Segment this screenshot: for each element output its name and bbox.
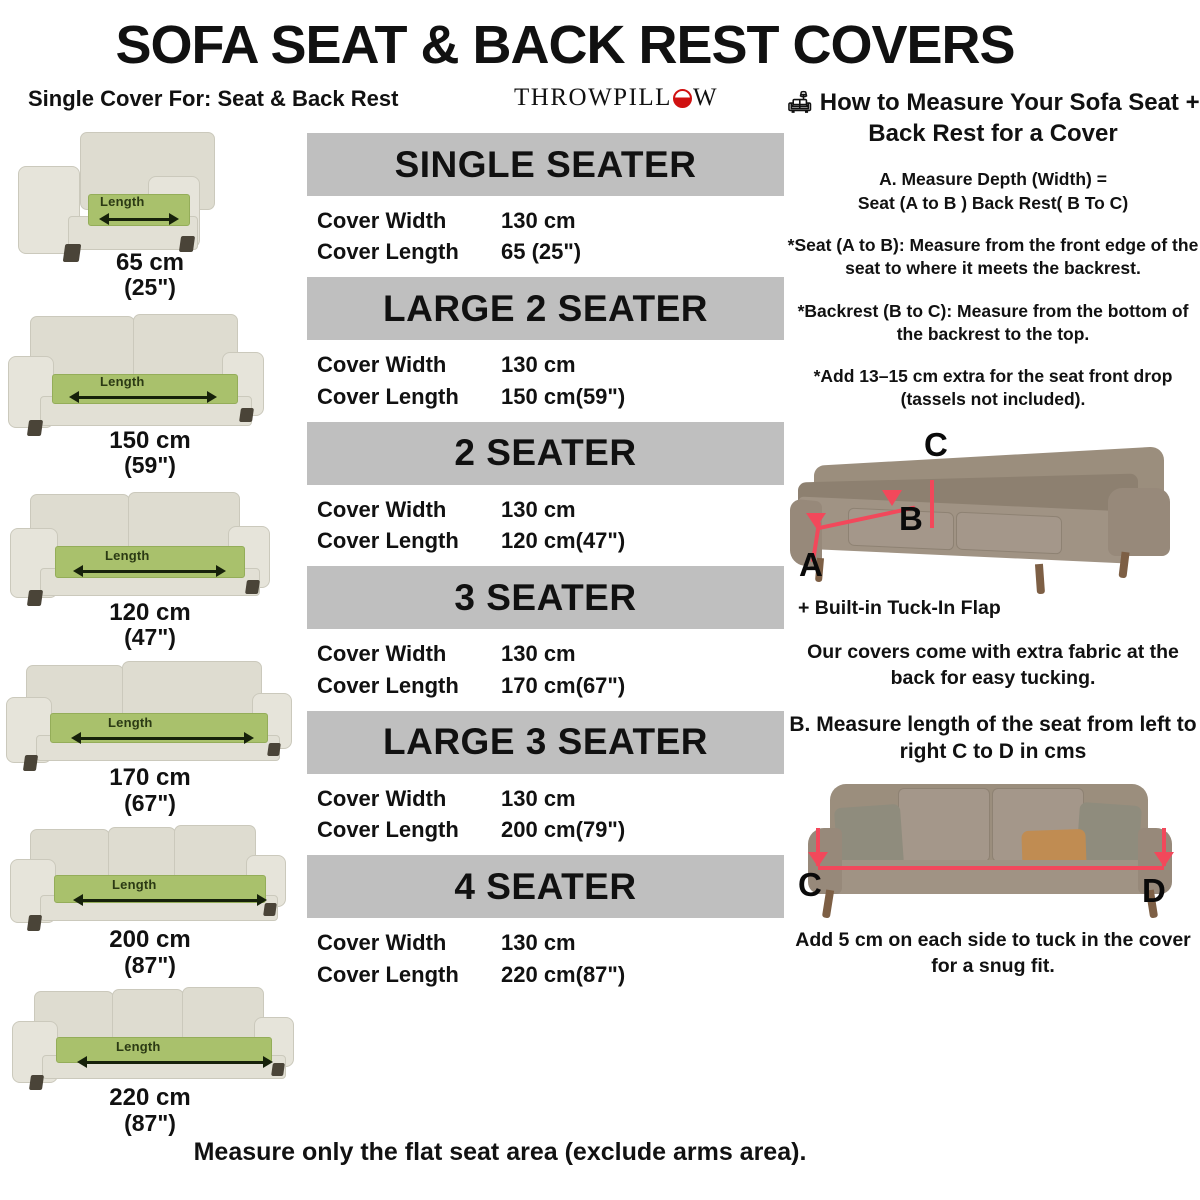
- length-inches: (47"): [0, 625, 300, 649]
- guide-note-a-line2: Seat (A to B ) Back Rest( B To C): [786, 192, 1200, 215]
- cover-length-row: Cover Length 170 cm(67"): [317, 670, 784, 701]
- size-table: SINGLE SEATER Cover Width 130 cm Cover L…: [307, 133, 784, 1000]
- marker-c: C: [798, 866, 822, 904]
- sofa-caption-3-seater: 170 cm (67"): [0, 765, 300, 815]
- cover-length-value: 150 cm(59"): [501, 381, 625, 412]
- brand-part-3: W: [693, 84, 718, 112]
- cover-width-value: 130 cm: [501, 783, 576, 814]
- guide-title-text: How to Measure Your Sofa Seat + Back Res…: [820, 89, 1200, 147]
- infographic-page: SOFA SEAT & BACK REST COVERS Single Cove…: [0, 0, 1200, 1200]
- cover-width-row: Cover Width 130 cm: [317, 638, 784, 669]
- brand-logo: THROWPILLW: [514, 84, 718, 112]
- cover-length-row: Cover Length 65 (25"): [317, 236, 784, 267]
- sofa-caption-single-seater: 65 cm (25"): [0, 250, 300, 300]
- cover-width-label: Cover Width: [317, 349, 501, 380]
- size-card-2-seater: 2 SEATER Cover Width 130 cm Cover Length…: [307, 422, 784, 565]
- cover-length-row: Cover Length 220 cm(87"): [317, 959, 784, 990]
- length-arrow: [78, 396, 208, 399]
- cover-length-value: 220 cm(87"): [501, 959, 625, 990]
- guide-note-a-line1: A. Measure Depth (Width) =: [786, 168, 1200, 191]
- length-inches: (25"): [0, 275, 300, 299]
- cover-length-label: Cover Length: [317, 236, 501, 267]
- brand-part-2: WPILL: [588, 84, 672, 112]
- cover-length-label: Cover Length: [317, 381, 501, 412]
- brand-part-1: THR: [514, 84, 569, 112]
- tuck-note: Our covers come with extra fabric at the…: [786, 640, 1200, 691]
- size-card-title: SINGLE SEATER: [395, 144, 697, 186]
- sofa-illustration-column: Length 65 cm (25") Length: [0, 128, 300, 1135]
- size-card-title: 4 SEATER: [454, 866, 636, 908]
- length-inches: (67"): [0, 791, 300, 815]
- red-circle-logo-dot-icon: [673, 89, 692, 108]
- cover-length-label: Cover Length: [317, 814, 501, 845]
- sofa-illustration-large-2-seater: Length 150 cm (59"): [0, 312, 300, 478]
- sofa-illustration-4-seater: Length 220 cm (87"): [0, 983, 300, 1135]
- page-title: SOFA SEAT & BACK REST COVERS: [0, 14, 1130, 76]
- sofa-caption-4-seater: 220 cm (87"): [0, 1085, 300, 1135]
- size-card-header: SINGLE SEATER: [307, 133, 784, 196]
- cover-length-label: Cover Length: [317, 670, 501, 701]
- red-arrow-a: [806, 513, 826, 528]
- cover-width-row: Cover Width 130 cm: [317, 494, 784, 525]
- length-arrow-label: Length: [100, 374, 145, 389]
- size-card-single-seater: SINGLE SEATER Cover Width 130 cm Cover L…: [307, 133, 784, 276]
- guide-note-backrest: *Backrest (B to C): Measure from the bot…: [786, 300, 1200, 347]
- length-arrow: [86, 1061, 264, 1064]
- cover-length-row: Cover Length 150 cm(59"): [317, 381, 784, 412]
- length-inches: (87"): [0, 953, 300, 977]
- size-card-header: 2 SEATER: [307, 422, 784, 485]
- length-arrow-label: Length: [116, 1039, 161, 1054]
- marker-c: C: [924, 426, 948, 464]
- cover-width-label: Cover Width: [317, 205, 501, 236]
- size-card-large-3-seater: LARGE 3 SEATER Cover Width 130 cm Cover …: [307, 711, 784, 854]
- sofa-caption-large-3-seater: 200 cm (87"): [0, 927, 300, 977]
- guide-note-a: A. Measure Depth (Width) = Seat (A to B …: [786, 168, 1200, 215]
- cover-length-row: Cover Length 120 cm(47"): [317, 525, 784, 556]
- size-card-large-2-seater: LARGE 2 SEATER Cover Width 130 cm Cover …: [307, 277, 784, 420]
- sofa-illustration-large-3-seater: Length 200 cm (87"): [0, 823, 300, 977]
- red-arrow-c: [808, 852, 828, 867]
- cover-length-value: 200 cm(79"): [501, 814, 625, 845]
- size-card-4-seater: 4 SEATER Cover Width 130 cm Cover Length…: [307, 855, 784, 998]
- cover-length-label: Cover Length: [317, 525, 501, 556]
- measurement-guide-column: 🛋 How to Measure Your Sofa Seat + Back R…: [786, 88, 1200, 980]
- length-arrow: [80, 737, 245, 740]
- guide-note-seat: *Seat (A to B): Measure from the front e…: [786, 234, 1200, 281]
- length-inches: (59"): [0, 453, 300, 477]
- marker-b: B: [899, 500, 923, 538]
- length-arrow: [82, 899, 258, 902]
- cover-width-value: 130 cm: [501, 494, 576, 525]
- size-card-title: LARGE 3 SEATER: [383, 721, 708, 763]
- red-arrow-d: [1154, 852, 1174, 867]
- length-arrow-label: Length: [112, 877, 157, 892]
- brand-o-letter: O: [569, 84, 589, 112]
- size-card-header: 3 SEATER: [307, 566, 784, 629]
- cover-width-value: 130 cm: [501, 638, 576, 669]
- size-card-header: LARGE 3 SEATER: [307, 711, 784, 774]
- size-card-header: 4 SEATER: [307, 855, 784, 918]
- red-measure-line-cd: [818, 866, 1164, 870]
- cover-width-row: Cover Width 130 cm: [317, 349, 784, 380]
- size-card-title: 2 SEATER: [454, 432, 636, 474]
- cover-length-value: 65 (25"): [501, 236, 581, 267]
- cover-width-row: Cover Width 130 cm: [317, 927, 784, 958]
- cover-length-row: Cover Length 200 cm(79"): [317, 814, 784, 845]
- snug-note: Add 5 cm on each side to tuck in the cov…: [786, 928, 1200, 979]
- length-arrow-label: Length: [108, 715, 153, 730]
- red-measure-line-bc: [930, 480, 934, 528]
- guide-title: 🛋 How to Measure Your Sofa Seat + Back R…: [786, 88, 1200, 149]
- guide-note-extra: *Add 13–15 cm extra for the seat front d…: [786, 365, 1200, 412]
- marker-d: D: [1142, 872, 1166, 910]
- cover-width-label: Cover Width: [317, 494, 501, 525]
- footer-note: Measure only the flat seat area (exclude…: [0, 1138, 1000, 1167]
- size-card-title: LARGE 2 SEATER: [383, 288, 708, 330]
- guide-note-b: B. Measure length of the seat from left …: [786, 711, 1200, 766]
- size-card-title: 3 SEATER: [454, 577, 636, 619]
- sofa-caption-2-seater: 120 cm (47"): [0, 600, 300, 650]
- sofa-illustration-single-seater: Length 65 cm (25"): [0, 128, 300, 300]
- length-inches: (87"): [0, 1111, 300, 1135]
- cover-width-value: 130 cm: [501, 349, 576, 380]
- length-arrow: [108, 218, 170, 221]
- subtitle: Single Cover For: Seat & Back Rest: [28, 86, 398, 112]
- diagram-abc: C B A: [786, 418, 1200, 600]
- size-card-3-seater: 3 SEATER Cover Width 130 cm Cover Length…: [307, 566, 784, 709]
- cover-width-value: 130 cm: [501, 205, 576, 236]
- cover-width-label: Cover Width: [317, 927, 501, 958]
- sofa-illustration-2-seater: Length 120 cm (47"): [0, 488, 300, 650]
- cover-length-value: 170 cm(67"): [501, 670, 625, 701]
- size-card-header: LARGE 2 SEATER: [307, 277, 784, 340]
- cover-width-row: Cover Width 130 cm: [317, 205, 784, 236]
- length-arrow: [82, 570, 217, 573]
- couch-icon: 🛋: [786, 91, 813, 114]
- cover-width-value: 130 cm: [501, 927, 576, 958]
- length-arrow-label: Length: [105, 548, 150, 563]
- sofa-caption-large-2-seater: 150 cm (59"): [0, 428, 300, 478]
- diagram-cd: C D: [786, 780, 1200, 928]
- sofa-illustration-3-seater: Length 170 cm (67"): [0, 659, 300, 815]
- cover-width-row: Cover Width 130 cm: [317, 783, 784, 814]
- marker-a: A: [799, 546, 823, 584]
- cover-length-label: Cover Length: [317, 959, 501, 990]
- length-arrow-label: Length: [100, 194, 145, 209]
- cover-length-value: 120 cm(47"): [501, 525, 625, 556]
- cover-width-label: Cover Width: [317, 783, 501, 814]
- cover-width-label: Cover Width: [317, 638, 501, 669]
